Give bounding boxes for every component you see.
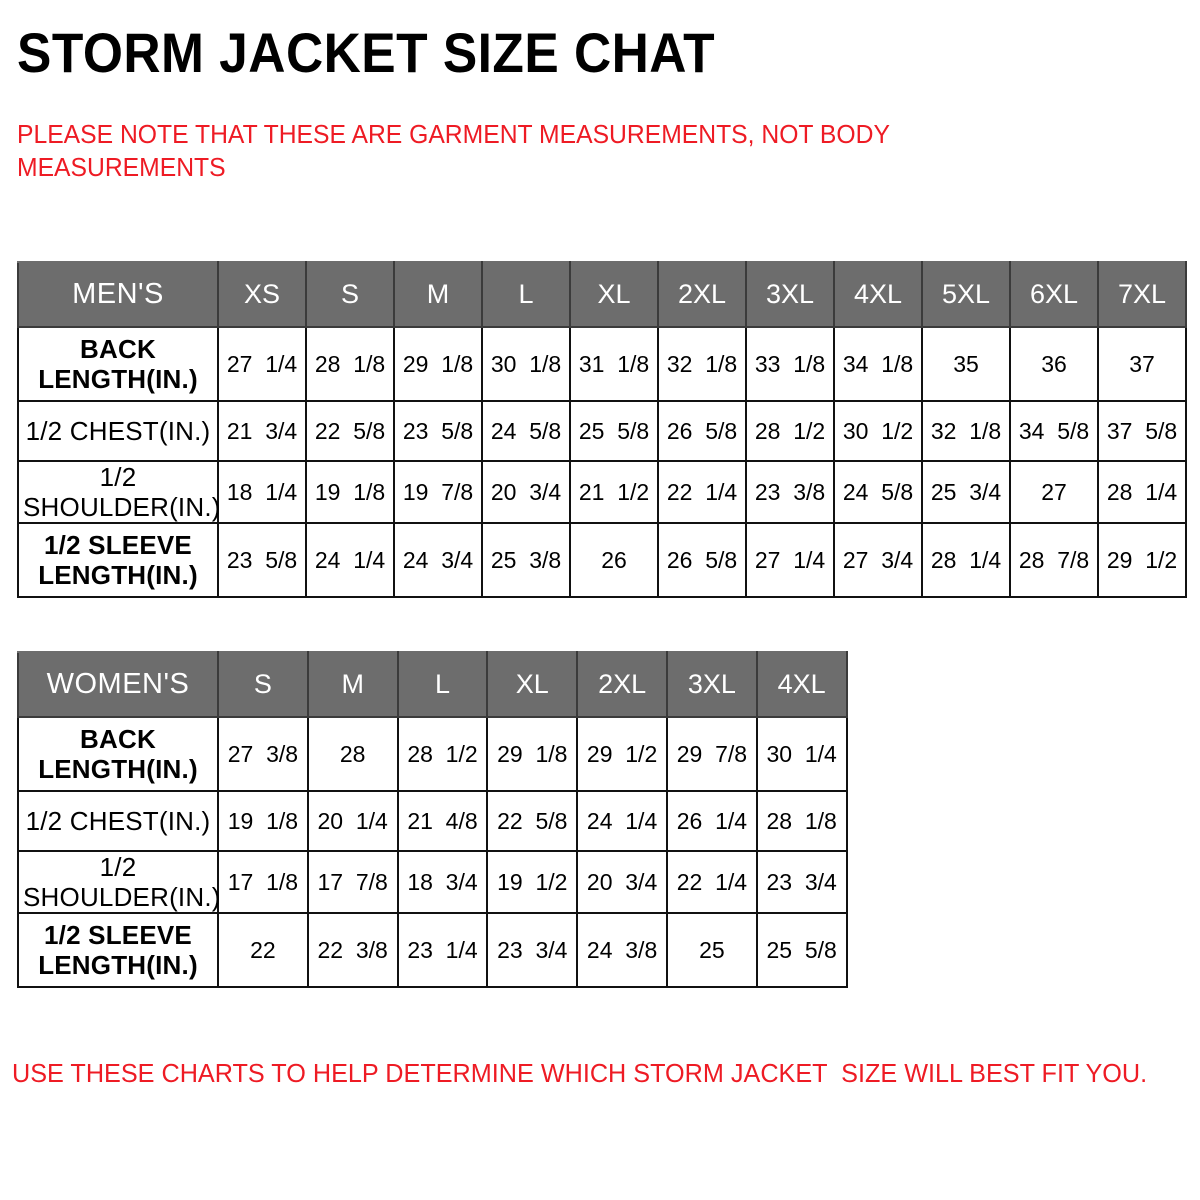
measurement-cell: 33 1/8 <box>746 327 834 401</box>
measurement-cell: 25 3/8 <box>482 523 570 597</box>
womens-size-column-4xl: 4XL <box>757 652 847 717</box>
measurement-cell: 23 1/4 <box>398 913 488 987</box>
measurement-cell: 19 1/8 <box>306 461 394 523</box>
table-row: 1/2 CHEST(IN.)21 3/422 5/823 5/824 5/825… <box>18 401 1186 461</box>
measurement-cell: 27 <box>1010 461 1098 523</box>
measurement-cell: 29 1/8 <box>487 717 577 791</box>
measurement-cell: 24 5/8 <box>482 401 570 461</box>
mens-size-table: MEN'SXSSMLXL2XL3XL4XL5XL6XL7XL BACKLENGT… <box>17 261 1187 598</box>
measurement-cell: 28 1/2 <box>398 717 488 791</box>
mens-size-column-m: M <box>394 262 482 327</box>
mens-row-label: 1/2 SLEEVELENGTH(IN.) <box>18 523 218 597</box>
measurement-cell: 25 <box>667 913 757 987</box>
measurement-cell: 27 3/4 <box>834 523 922 597</box>
measurement-cell: 24 3/4 <box>394 523 482 597</box>
measurement-cell: 26 5/8 <box>658 523 746 597</box>
womens-table-header: WOMEN'SSMLXL2XL3XL4XL <box>18 652 847 717</box>
womens-row-label: 1/2 SLEEVELENGTH(IN.) <box>18 913 218 987</box>
mens-size-column-7xl: 7XL <box>1098 262 1186 327</box>
measurement-cell: 35 <box>922 327 1010 401</box>
measurement-cell: 26 5/8 <box>658 401 746 461</box>
mens-row-label: BACKLENGTH(IN.) <box>18 327 218 401</box>
measurement-cell: 24 3/8 <box>577 913 667 987</box>
measurement-cell: 28 7/8 <box>1010 523 1098 597</box>
mens-table-header: MEN'SXSSMLXL2XL3XL4XL5XL6XL7XL <box>18 262 1186 327</box>
table-row: 1/2 SLEEVELENGTH(IN.)2222 3/823 1/423 3/… <box>18 913 847 987</box>
page-title: STORM JACKET SIZE CHAT <box>17 22 715 84</box>
measurement-cell: 22 5/8 <box>306 401 394 461</box>
measurement-cell: 17 1/8 <box>218 851 308 913</box>
table-row: 1/2 SLEEVELENGTH(IN.)23 5/824 1/424 3/42… <box>18 523 1186 597</box>
measurement-cell: 31 1/8 <box>570 327 658 401</box>
mens-header-row: MEN'SXSSMLXL2XL3XL4XL5XL6XL7XL <box>18 262 1186 327</box>
measurement-cell: 28 1/4 <box>1098 461 1186 523</box>
measurement-cell: 23 5/8 <box>394 401 482 461</box>
measurement-cell: 21 4/8 <box>398 791 488 851</box>
measurement-cell: 28 1/4 <box>922 523 1010 597</box>
womens-size-column-2xl: 2XL <box>577 652 667 717</box>
measurement-cell: 26 <box>570 523 658 597</box>
mens-corner-label: MEN'S <box>18 262 218 327</box>
womens-size-table: WOMEN'SSMLXL2XL3XL4XL BACKLENGTH(IN.)27 … <box>17 651 848 988</box>
womens-corner-label: WOMEN'S <box>18 652 218 717</box>
measurement-cell: 23 5/8 <box>218 523 306 597</box>
measurement-cell: 37 5/8 <box>1098 401 1186 461</box>
mens-size-column-l: L <box>482 262 570 327</box>
measurement-cell: 32 1/8 <box>922 401 1010 461</box>
measurement-cell: 22 3/8 <box>308 913 398 987</box>
measurement-cell: 37 <box>1098 327 1186 401</box>
womens-row-label: BACKLENGTH(IN.) <box>18 717 218 791</box>
measurement-cell: 24 5/8 <box>834 461 922 523</box>
mens-table-body: BACKLENGTH(IN.)27 1/428 1/829 1/830 1/83… <box>18 327 1186 597</box>
measurement-cell: 23 3/4 <box>757 851 847 913</box>
measurement-cell: 22 <box>218 913 308 987</box>
measurement-cell: 21 3/4 <box>218 401 306 461</box>
measurement-cell: 26 1/4 <box>667 791 757 851</box>
measurement-cell: 23 3/8 <box>746 461 834 523</box>
womens-size-column-m: M <box>308 652 398 717</box>
table-row: 1/2 SHOULDER(IN.)17 1/817 7/818 3/419 1/… <box>18 851 847 913</box>
table-row: BACKLENGTH(IN.)27 3/82828 1/229 1/829 1/… <box>18 717 847 791</box>
measurement-cell: 36 <box>1010 327 1098 401</box>
mens-row-label: 1/2 CHEST(IN.) <box>18 401 218 461</box>
measurement-cell: 29 1/2 <box>577 717 667 791</box>
mens-size-column-s: S <box>306 262 394 327</box>
mens-size-column-xl: XL <box>570 262 658 327</box>
measurement-cell: 29 1/8 <box>394 327 482 401</box>
womens-size-column-s: S <box>218 652 308 717</box>
measurement-cell: 30 1/2 <box>834 401 922 461</box>
measurement-cell: 22 1/4 <box>658 461 746 523</box>
mens-size-column-6xl: 6XL <box>1010 262 1098 327</box>
womens-header-row: WOMEN'SSMLXL2XL3XL4XL <box>18 652 847 717</box>
womens-size-column-xl: XL <box>487 652 577 717</box>
measurement-cell: 22 5/8 <box>487 791 577 851</box>
table-row: BACKLENGTH(IN.)27 1/428 1/829 1/830 1/83… <box>18 327 1186 401</box>
measurement-cell: 18 1/4 <box>218 461 306 523</box>
measurement-cell: 30 1/8 <box>482 327 570 401</box>
measurement-cell: 24 1/4 <box>577 791 667 851</box>
measurement-cell: 28 <box>308 717 398 791</box>
measurement-cell: 28 1/8 <box>757 791 847 851</box>
measurement-cell: 29 1/2 <box>1098 523 1186 597</box>
measurement-cell: 25 5/8 <box>570 401 658 461</box>
mens-row-label: 1/2 SHOULDER(IN.) <box>18 461 218 523</box>
measurement-cell: 28 1/2 <box>746 401 834 461</box>
measurement-cell: 23 3/4 <box>487 913 577 987</box>
womens-size-column-3xl: 3XL <box>667 652 757 717</box>
measurement-cell: 21 1/2 <box>570 461 658 523</box>
measurement-cell: 17 7/8 <box>308 851 398 913</box>
measurement-cell: 18 3/4 <box>398 851 488 913</box>
size-chart-page: STORM JACKET SIZE CHAT PLEASE NOTE THAT … <box>0 0 1200 1200</box>
measurement-cell: 32 1/8 <box>658 327 746 401</box>
measurement-cell: 19 7/8 <box>394 461 482 523</box>
measurement-cell: 28 1/8 <box>306 327 394 401</box>
measurement-cell: 22 1/4 <box>667 851 757 913</box>
mens-size-column-5xl: 5XL <box>922 262 1010 327</box>
mens-size-column-xs: XS <box>218 262 306 327</box>
womens-table-body: BACKLENGTH(IN.)27 3/82828 1/229 1/829 1/… <box>18 717 847 987</box>
measurement-cell: 20 1/4 <box>308 791 398 851</box>
measurement-cell: 19 1/8 <box>218 791 308 851</box>
measurement-cell: 27 3/8 <box>218 717 308 791</box>
footer-note: USE THESE CHARTS TO HELP DETERMINE WHICH… <box>12 1057 1147 1089</box>
measurement-cell: 19 1/2 <box>487 851 577 913</box>
measurement-cell: 24 1/4 <box>306 523 394 597</box>
table-row: 1/2 SHOULDER(IN.)18 1/419 1/819 7/820 3/… <box>18 461 1186 523</box>
measurement-cell: 34 5/8 <box>1010 401 1098 461</box>
measurement-cell: 20 3/4 <box>482 461 570 523</box>
mens-size-column-3xl: 3XL <box>746 262 834 327</box>
measurement-cell: 29 7/8 <box>667 717 757 791</box>
womens-row-label: 1/2 CHEST(IN.) <box>18 791 218 851</box>
womens-size-column-l: L <box>398 652 488 717</box>
garment-measurement-note: PLEASE NOTE THAT THESE ARE GARMENT MEASU… <box>17 118 929 184</box>
measurement-cell: 20 3/4 <box>577 851 667 913</box>
table-row: 1/2 CHEST(IN.)19 1/820 1/421 4/822 5/824… <box>18 791 847 851</box>
mens-size-column-4xl: 4XL <box>834 262 922 327</box>
measurement-cell: 30 1/4 <box>757 717 847 791</box>
measurement-cell: 25 3/4 <box>922 461 1010 523</box>
mens-size-column-2xl: 2XL <box>658 262 746 327</box>
womens-row-label: 1/2 SHOULDER(IN.) <box>18 851 218 913</box>
measurement-cell: 27 1/4 <box>746 523 834 597</box>
measurement-cell: 27 1/4 <box>218 327 306 401</box>
measurement-cell: 34 1/8 <box>834 327 922 401</box>
measurement-cell: 25 5/8 <box>757 913 847 987</box>
